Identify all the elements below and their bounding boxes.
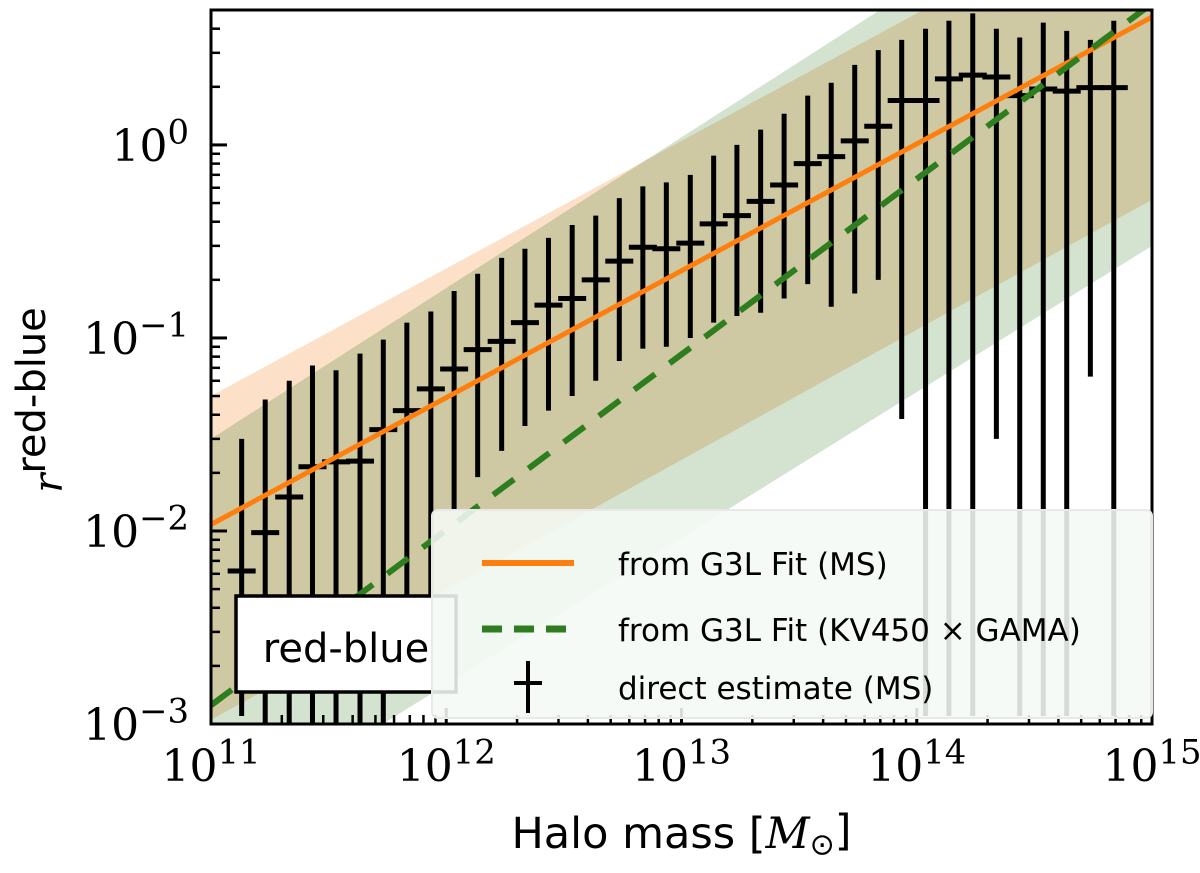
x-axis-label: Halo mass [M⊙]	[511, 806, 851, 862]
tick-label: 100	[111, 112, 189, 172]
chart-svg: 1011101210131014101510010−110−210−3Halo …	[0, 0, 1200, 873]
tick-label: 10−2	[83, 498, 189, 558]
legend[interactable]: from G3L Fit (MS)from G3L Fit (KV450 × G…	[432, 510, 1152, 718]
tick-label: 10−1	[83, 305, 189, 365]
tick-label: 1012	[397, 732, 496, 792]
panel-label-text: red-blue	[263, 626, 429, 672]
legend-label: from G3L Fit (MS)	[618, 547, 888, 583]
figure-canvas: 1011101210131014101510010−110−210−3Halo …	[0, 0, 1200, 873]
y-axis-label: rred-blue	[9, 307, 72, 493]
tick-label: 1014	[867, 732, 966, 792]
panel-label-box: red-blue	[236, 596, 456, 692]
tick-label: 1015	[1102, 732, 1200, 792]
tick-label: 1011	[161, 732, 260, 792]
legend-label: from G3L Fit (KV450 × GAMA)	[618, 613, 1081, 649]
tick-label: 1013	[632, 732, 731, 792]
legend-label: direct estimate (MS)	[618, 671, 933, 707]
svg-text:rred-blue: rred-blue	[9, 307, 72, 493]
